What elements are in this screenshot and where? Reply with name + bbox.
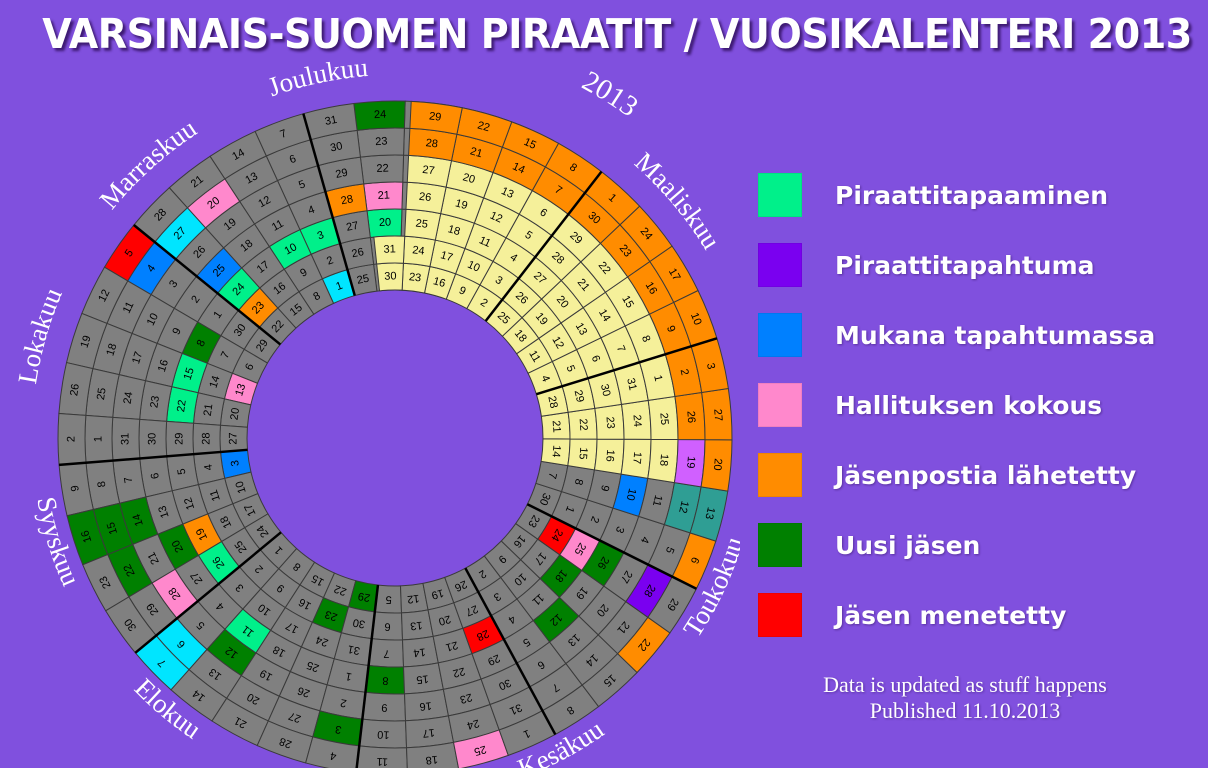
legend-label-meeting: Piraattitapaaminen: [835, 181, 1108, 210]
legend-item-meeting: Piraattitapaaminen: [745, 160, 1205, 230]
calendar-day-cell: [377, 263, 404, 291]
calendar-day-cell: [405, 209, 441, 240]
legend-item-event: Piraattitapahtuma: [745, 230, 1205, 300]
footer-note: Data is updated as stuff happens Publish…: [745, 672, 1185, 724]
calendar-day-cell: [403, 236, 435, 266]
calendar-day-cell: [406, 182, 446, 213]
legend-label-newmember: Uusi jäsen: [835, 531, 980, 560]
calendar-day-cell: [359, 719, 406, 748]
legend-item-lostmember: Jäsen menetetty: [745, 580, 1205, 650]
calendar-day-cell: [166, 421, 194, 456]
calendar-day-cell: [702, 389, 732, 440]
footer-line-1: Data is updated as stuff happens: [745, 672, 1185, 698]
legend-swatch-meeting: [758, 173, 802, 217]
calendar-day-cell: [675, 392, 705, 439]
spiral-calendar-chart: 1234567891011121314151617181920212223242…: [0, 60, 740, 768]
calendar-day-cell: [674, 440, 705, 487]
calendar-day-cell: [402, 610, 434, 640]
year-label-2013: 2013: [577, 65, 644, 123]
legend-item-newmember: Uusi jäsen: [745, 510, 1205, 580]
legend-swatch-mail: [758, 453, 802, 497]
legend-item-mail: Jäsenpostia lähetetty: [745, 440, 1205, 510]
page-title: VARSINAIS-SUOMEN PIRAATIT / VUOSIKALENTE…: [42, 10, 1165, 58]
legend-item-board: Hallituksen kokous: [745, 370, 1205, 440]
calendar-day-cell: [360, 155, 403, 184]
legend-label-participating: Mukana tapahtumassa: [835, 321, 1155, 350]
calendar-day-cell: [621, 439, 651, 478]
calendar-day-cell: [622, 400, 651, 439]
calendar-day-cell: [595, 404, 624, 439]
calendar-day-cell: [410, 101, 462, 134]
calendar-day-cell: [541, 439, 570, 466]
calendar-day-cell: [193, 423, 221, 454]
legend-swatch-lostmember: [758, 593, 802, 637]
calendar-day-cell: [354, 101, 405, 130]
calendar-day-cell: [568, 439, 597, 470]
calendar-day-cell: [648, 396, 678, 439]
calendar-day-cell: [357, 128, 404, 157]
calendar-day-cell: [167, 387, 199, 424]
legend-swatch-newmember: [758, 523, 802, 567]
calendar-day-cell: [541, 412, 570, 439]
calendar-day-cell: [372, 612, 403, 640]
calendar-day-cell: [367, 209, 402, 238]
legend-label-event: Piraattitapahtuma: [835, 251, 1095, 280]
calendar-day-cell: [112, 417, 140, 460]
calendar-day-cell: [568, 408, 597, 439]
calendar-day-cell: [404, 663, 444, 694]
calendar-day-cell: [369, 639, 404, 667]
calendar-day-cell: [220, 425, 247, 452]
calendar-day-cell: [405, 689, 449, 720]
calendar-day-cell: [362, 692, 405, 721]
calendar-day-cell: [139, 419, 167, 458]
calendar-day-cell: [402, 263, 430, 293]
calendar-day-cell: [356, 746, 407, 768]
calendar-day-cell: [194, 393, 225, 425]
calendar-day-cell: [58, 413, 86, 464]
calendar-day-cell: [403, 636, 439, 666]
legend-swatch-event: [758, 243, 802, 287]
legend-item-participating: Mukana tapahtumassa: [745, 300, 1205, 370]
calendar-cells: 1234567891011121314151617181920212223242…: [58, 101, 732, 768]
calendar-day-cell: [364, 182, 403, 211]
legend-label-lostmember: Jäsen menetetty: [835, 601, 1066, 630]
legend-label-board: Hallituksen kokous: [835, 391, 1102, 420]
calendar-day-cell: [365, 665, 404, 694]
month-label-huhtikuu: Huhtikuu: [735, 319, 740, 427]
calendar-day-cell: [375, 585, 402, 613]
calendar-day-cell: [85, 415, 113, 462]
calendar-day-cell: [407, 155, 451, 187]
legend-swatch-board: [758, 383, 802, 427]
month-label-lokakuu: Lokakuu: [12, 283, 68, 386]
calendar-day-cell: [406, 716, 454, 748]
calendar-day-cell: [594, 439, 624, 474]
calendar-day-cell: [701, 440, 732, 491]
calendar-day-cell: [648, 439, 678, 482]
footer-line-2: Published 11.10.2013: [745, 698, 1185, 724]
legend: PiraattitapaaminenPiraattitapahtumaMukan…: [745, 160, 1205, 650]
legend-swatch-participating: [758, 313, 802, 357]
month-label-joulukuu: Joulukuu: [264, 60, 369, 102]
calendar-day-cell: [374, 236, 405, 264]
legend-label-mail: Jäsenpostia lähetetty: [835, 461, 1136, 490]
